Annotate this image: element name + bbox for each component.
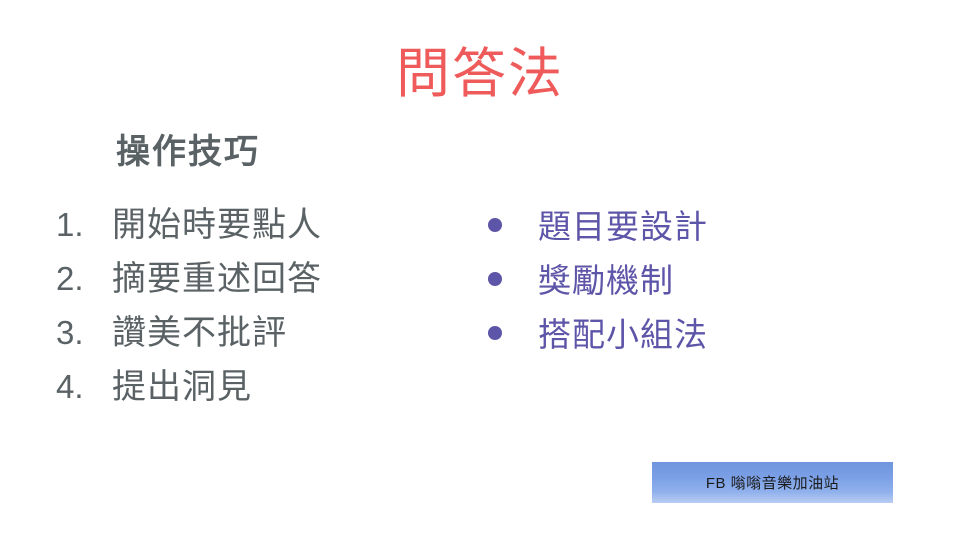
list-item-marker: 3.	[56, 306, 112, 360]
page-title: 問答法	[0, 42, 960, 106]
list-item-label: 開始時要點人	[112, 198, 322, 252]
footer-badge: FB 嗡嗡音樂加油站	[652, 462, 893, 503]
bullet-dot-icon	[488, 218, 502, 232]
list-item-marker: 1.	[56, 198, 112, 252]
footer-badge-label: FB 嗡嗡音樂加油站	[706, 472, 839, 493]
list-item: 題目要設計	[488, 200, 908, 254]
bullet-dot-icon	[488, 326, 502, 340]
list-item: 獎勵機制	[488, 254, 908, 308]
list-item: 1.開始時要點人	[56, 198, 456, 252]
bullet-item-label: 搭配小組法	[538, 308, 708, 362]
list-item: 2.摘要重述回答	[56, 252, 456, 306]
list-item-label: 讚美不批評	[112, 306, 287, 360]
presentation-slide: 問答法 操作技巧 1.開始時要點人 2.摘要重述回答 3.讚美不批評 4.提出洞…	[0, 0, 960, 540]
ordered-list: 1.開始時要點人 2.摘要重述回答 3.讚美不批評 4.提出洞見	[56, 198, 456, 414]
slide-subtitle: 操作技巧	[116, 128, 260, 176]
bullet-list: 題目要設計 獎勵機制 搭配小組法	[488, 200, 908, 362]
list-item: 3.讚美不批評	[56, 306, 456, 360]
bullet-dot-icon	[488, 272, 502, 286]
list-item-label: 摘要重述回答	[112, 252, 322, 306]
list-item-label: 提出洞見	[112, 360, 252, 414]
bullet-item-label: 題目要設計	[538, 200, 708, 254]
bullet-item-label: 獎勵機制	[538, 254, 674, 308]
list-item-marker: 2.	[56, 252, 112, 306]
list-item-marker: 4.	[56, 360, 112, 414]
list-item: 4.提出洞見	[56, 360, 456, 414]
list-item: 搭配小組法	[488, 308, 908, 362]
